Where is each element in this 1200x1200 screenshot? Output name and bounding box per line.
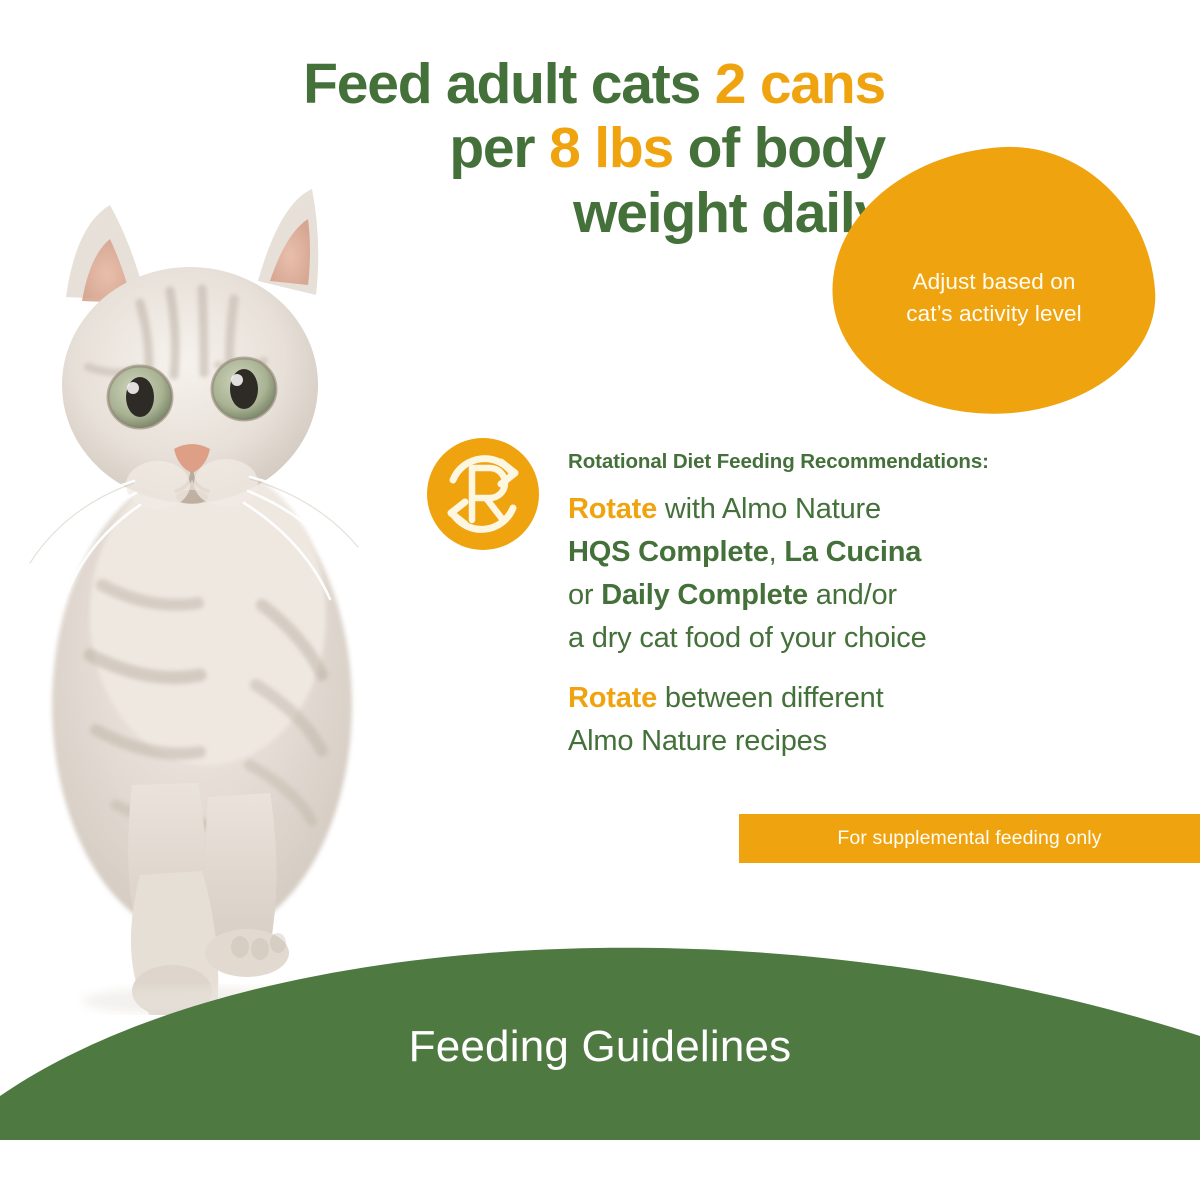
infographic-canvas: Feed adult cats 2 cans per 8 lbs of body… <box>0 0 1200 1200</box>
rotational-line-3-rest: and/or <box>808 579 897 611</box>
rotational-line-4: a dry cat food of your choice <box>568 617 1168 660</box>
activity-callout-line-2: cat’s activity level <box>846 298 1142 330</box>
rotational-line-2: HQS Complete, La Cucina <box>568 531 1168 574</box>
paragraph-spacer <box>568 660 1168 677</box>
activity-callout-line-1: Adjust based on <box>846 266 1142 298</box>
supplemental-feeding-label: For supplemental feeding only <box>837 827 1101 850</box>
headline: Feed adult cats 2 cans per 8 lbs of body… <box>150 52 885 245</box>
headline-line-2: per 8 lbs of body <box>150 116 885 180</box>
rotational-line-1: Rotate with Almo Nature <box>568 488 1168 531</box>
rotational-diet-heading: Rotational Diet Feeding Recommendations: <box>568 450 989 474</box>
rotational-line-6: Almo Nature recipes <box>568 720 1168 763</box>
footer-title: Feeding Guidelines <box>0 1022 1200 1072</box>
rotational-line-1-rest: with Almo Nature <box>657 493 881 525</box>
rotational-line-3-or: or <box>568 579 601 611</box>
rotate-keyword-2: Rotate <box>568 682 657 714</box>
cat-photo <box>12 185 412 1015</box>
rotation-arrows-r-icon <box>427 438 539 550</box>
rotational-line-5-rest: between different <box>657 682 883 714</box>
headline-highlight-8-lbs: 8 lbs <box>549 116 673 180</box>
product-daily-complete: Daily Complete <box>601 579 808 611</box>
product-hqs-complete: HQS Complete <box>568 536 769 568</box>
rotational-line-3: or Daily Complete and/or <box>568 574 1168 617</box>
headline-highlight-2-cans: 2 cans <box>715 52 885 116</box>
activity-callout-text: Adjust based on cat’s activity level <box>846 266 1142 330</box>
headline-line-3: weight daily <box>150 181 885 245</box>
headline-text-of-body: of body <box>673 116 885 180</box>
rotational-line-5: Rotate between different <box>568 677 1168 720</box>
rotational-line-2-comma: , <box>769 536 785 568</box>
product-la-cucina: La Cucina <box>784 536 921 568</box>
headline-line-1: Feed adult cats 2 cans <box>150 52 885 116</box>
headline-text-feed-adult-cats: Feed adult cats <box>303 52 715 116</box>
headline-text-per: per <box>449 116 549 180</box>
supplemental-feeding-bar: For supplemental feeding only <box>739 814 1200 863</box>
rotate-keyword-1: Rotate <box>568 493 657 525</box>
rotational-diet-body: Rotate with Almo Nature HQS Complete, La… <box>568 488 1168 763</box>
